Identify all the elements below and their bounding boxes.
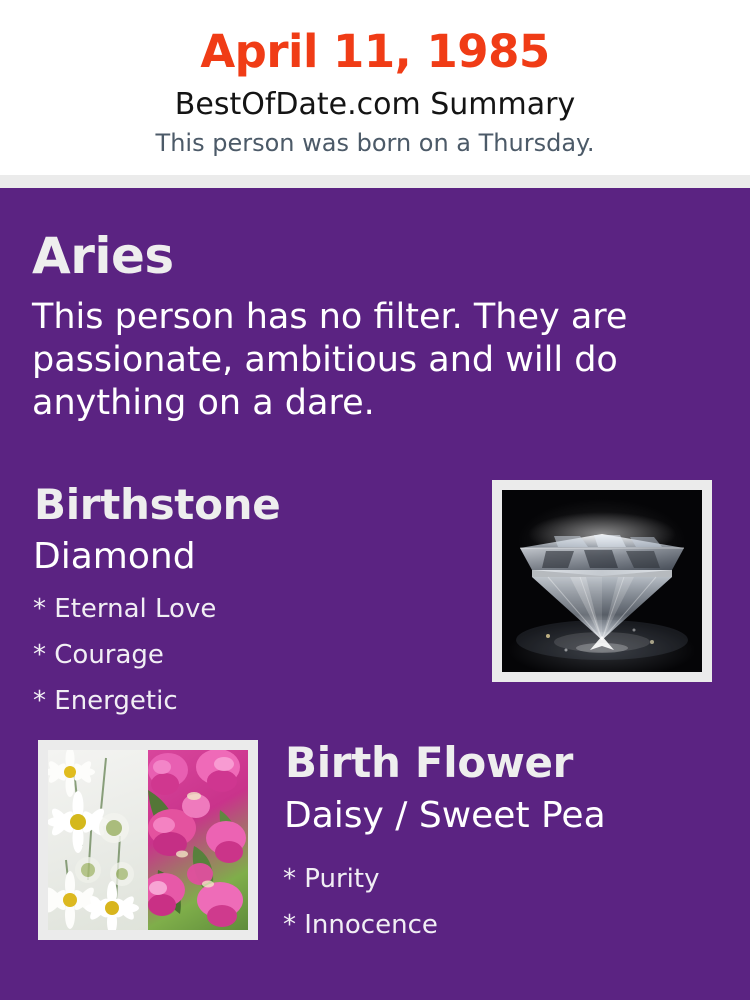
diamond-image bbox=[502, 490, 702, 672]
list-item: * Purity bbox=[283, 856, 438, 902]
birth-flower-heading: Birth Flower bbox=[285, 738, 573, 788]
list-item: * Innocence bbox=[283, 902, 438, 948]
diamond-icon bbox=[502, 490, 702, 672]
birthstone-name: Diamond bbox=[33, 536, 196, 578]
birthstone-image-frame bbox=[492, 480, 712, 682]
birth-day-note: This person was born on a Thursday. bbox=[0, 128, 750, 158]
site-subtitle: BestOfDate.com Summary bbox=[0, 87, 750, 123]
birth-flower-image-frame bbox=[38, 740, 258, 940]
zodiac-sign-title: Aries bbox=[32, 228, 174, 284]
daisy-photo-half bbox=[48, 750, 148, 930]
list-item: * Courage bbox=[33, 632, 216, 678]
birth-flower-image bbox=[48, 750, 248, 930]
birth-flower-name: Daisy / Sweet Pea bbox=[284, 795, 606, 837]
header-divider bbox=[0, 175, 750, 188]
birth-flower-traits-list: * Purity * Innocence bbox=[283, 856, 438, 948]
sweet-pea-photo-half bbox=[148, 750, 248, 930]
summary-page: April 11, 1985 BestOfDate.com Summary Th… bbox=[0, 0, 750, 1000]
zodiac-description: This person has no filter. They are pass… bbox=[32, 296, 642, 425]
birthstone-heading: Birthstone bbox=[34, 480, 280, 530]
page-title-date: April 11, 1985 bbox=[0, 26, 750, 78]
list-item: * Eternal Love bbox=[33, 586, 216, 632]
list-item: * Energetic bbox=[33, 678, 216, 724]
birthstone-traits-list: * Eternal Love * Courage * Energetic bbox=[33, 586, 216, 724]
daisy-icon bbox=[48, 750, 148, 930]
sweet-pea-icon bbox=[148, 750, 248, 930]
page-header: April 11, 1985 BestOfDate.com Summary Th… bbox=[0, 0, 750, 175]
